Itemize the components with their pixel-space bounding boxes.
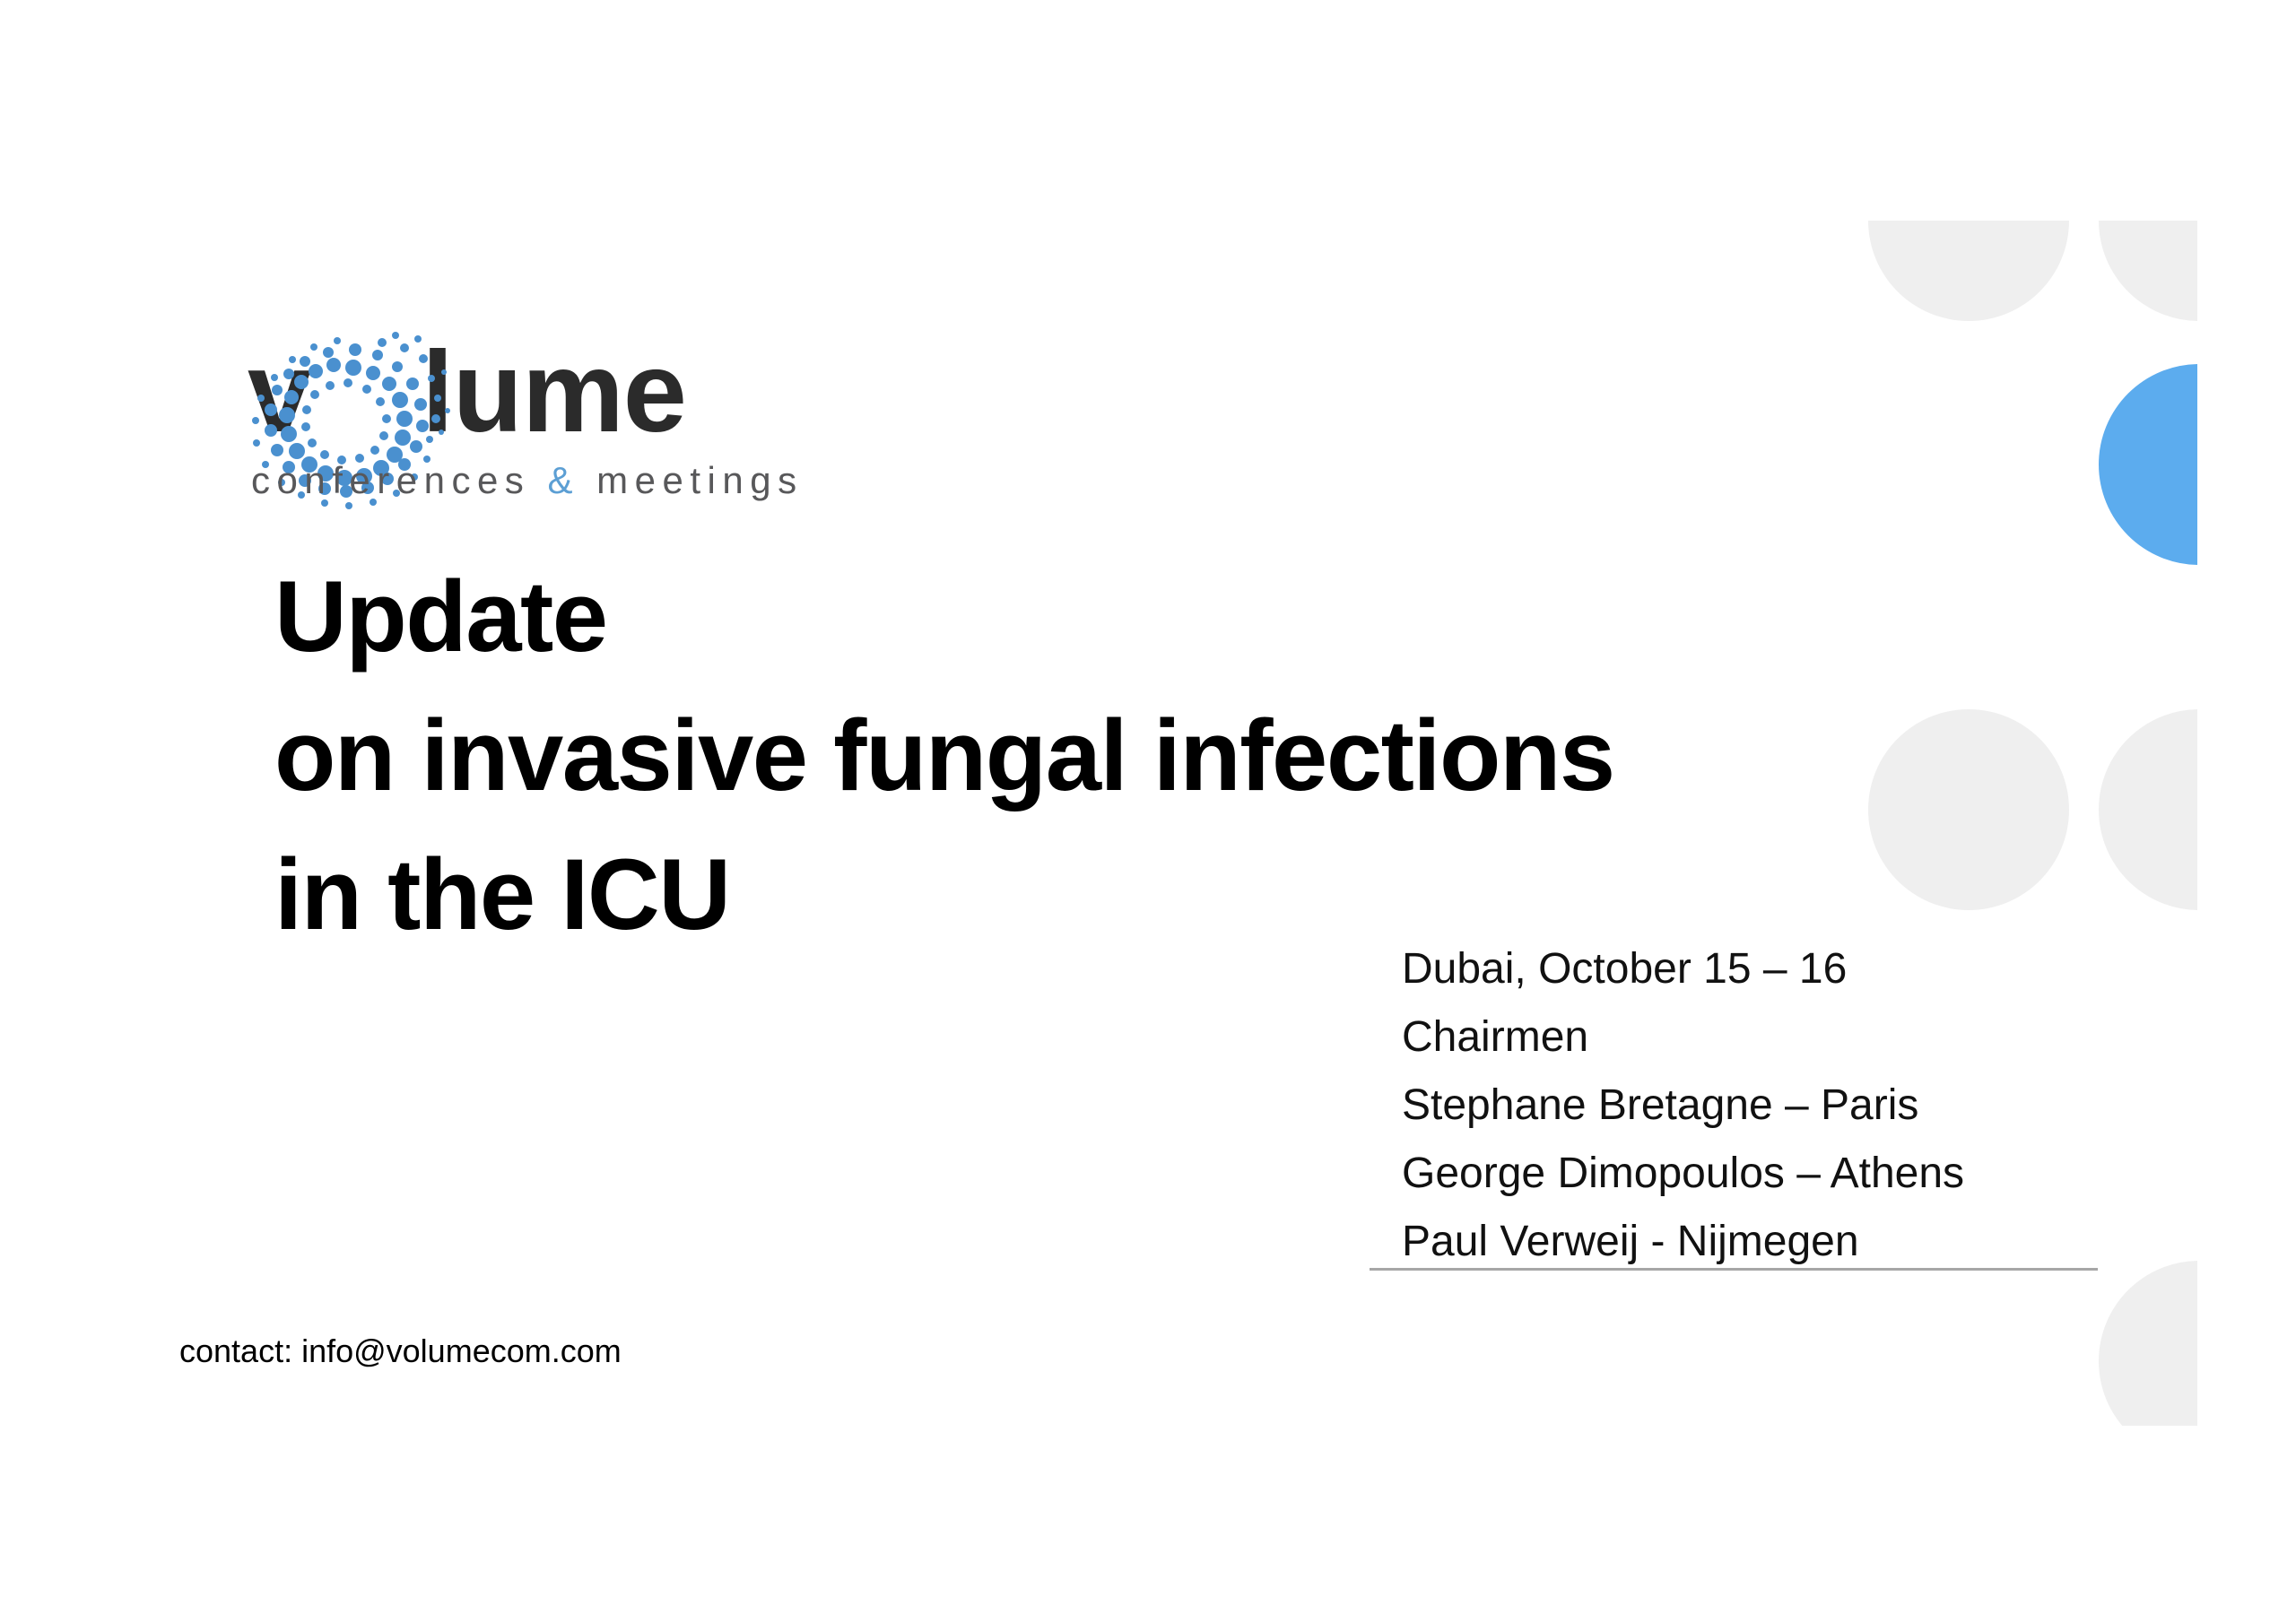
decorative-circle-accent-blue [2099, 364, 2197, 565]
page-title: Update on invasive fungal infections in … [274, 547, 1799, 964]
chairman-2: George Dimopoulos – Athens [1402, 1140, 2110, 1208]
title-line-2: on invasive fungal infections [274, 686, 1799, 825]
logo-tagline-part1: conferences [251, 459, 547, 501]
event-location-date: Dubai, October 15 – 16 [1402, 935, 2110, 1003]
logo-tagline-ampersand: & [547, 459, 579, 501]
decorative-circle-bottom [2099, 1261, 2197, 1426]
chairman-1: Stephane Bretagne – Paris [1402, 1072, 2110, 1140]
slide-canvas: vlume [0, 0, 2296, 1623]
logo-word-lume: lume [422, 328, 686, 456]
decorative-circle-top-left [1868, 221, 2069, 321]
logo-tagline-part2: meetings [579, 459, 804, 501]
contact-line: contact: info@volumecom.com [179, 1332, 622, 1371]
event-details-block: Dubai, October 15 – 16 Chairmen Stephane… [1402, 935, 2110, 1276]
chairman-3: Paul Verweij - Nijmegen [1402, 1208, 2110, 1276]
decorative-circle-middle-left [1868, 709, 2069, 910]
chairmen-heading: Chairmen [1402, 1003, 2110, 1072]
volume-logo: vlume [248, 334, 750, 513]
logo-tagline: conferences & meetings [251, 459, 804, 502]
event-details-divider [1370, 1268, 2098, 1271]
decorative-circle-top-right [2099, 221, 2197, 321]
title-line-1: Update [274, 547, 1799, 686]
decorative-circle-middle-right [2099, 709, 2197, 910]
